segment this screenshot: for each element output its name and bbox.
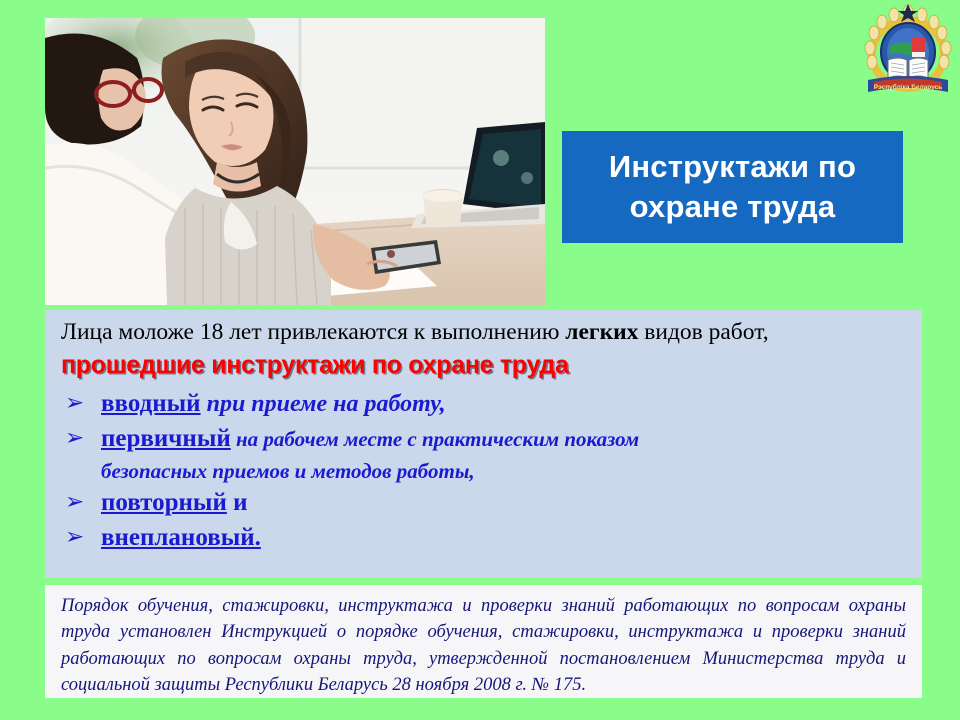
list-item-description: на рабочем месте с практическим показом bbox=[231, 427, 639, 451]
svg-text:Рэспублiка Беларусь: Рэспублiка Беларусь bbox=[874, 83, 942, 91]
photo-two-women-studying bbox=[45, 18, 545, 305]
list-item-body: первичный на рабочем месте с практически… bbox=[101, 422, 906, 455]
list-item-description: при приеме на работу, bbox=[201, 391, 446, 417]
list-item-keyword: внеплановый. bbox=[101, 524, 261, 551]
list-item-keyword: вводный bbox=[101, 390, 201, 417]
main-content-panel: Лица моложе 18 лет привлекаются к выполн… bbox=[45, 310, 922, 578]
list-item-continuation: безопасных приемов и методов работы, bbox=[101, 457, 906, 485]
list-item-body: повторный и bbox=[101, 486, 906, 519]
coat-of-arms-emblem: Рэспублiка Беларусь bbox=[860, 2, 956, 100]
arrow-bullet-icon: ➢ bbox=[61, 486, 101, 517]
list-item-body: вводный при приеме на работу, bbox=[101, 387, 906, 421]
list-item-suffix: и bbox=[227, 489, 248, 516]
lead-paragraph: Лица моложе 18 лет привлекаются к выполн… bbox=[61, 319, 906, 347]
page-title: Инструктажи по охране труда bbox=[576, 147, 889, 226]
lead-emphasis: легких bbox=[565, 319, 638, 345]
arrow-bullet-icon: ➢ bbox=[61, 422, 101, 453]
list-item: ➢ первичный на рабочем месте с практичес… bbox=[61, 422, 906, 455]
lead-text-after: видов работ, bbox=[638, 319, 768, 345]
arrow-bullet-icon: ➢ bbox=[61, 387, 101, 418]
lead-text-before: Лица моложе 18 лет привлекаются к выполн… bbox=[61, 319, 565, 345]
list-item-keyword: повторный bbox=[101, 489, 227, 516]
arrow-bullet-icon: ➢ bbox=[61, 521, 101, 552]
footnote-text: Порядок обучения, стажировки, инструктаж… bbox=[61, 593, 906, 698]
red-highlight-line: прошедшие инструктажи по охране труда bbox=[61, 351, 906, 380]
list-item-body: внеплановый. bbox=[101, 521, 906, 554]
list-item: ➢ вводный при приеме на работу, bbox=[61, 387, 906, 421]
list-item-keyword: первичный bbox=[101, 425, 231, 452]
slide-title-box: Инструктажи по охране труда bbox=[562, 131, 903, 243]
list-item: ➢ внеплановый. bbox=[61, 521, 906, 554]
briefing-types-list: ➢ вводный при приеме на работу, ➢ первич… bbox=[61, 387, 906, 554]
list-item: ➢ повторный и bbox=[61, 486, 906, 519]
coat-of-arms-icon: Рэспублiка Беларусь bbox=[860, 2, 956, 100]
footnote-box: Порядок обучения, стажировки, инструктаж… bbox=[45, 585, 922, 698]
